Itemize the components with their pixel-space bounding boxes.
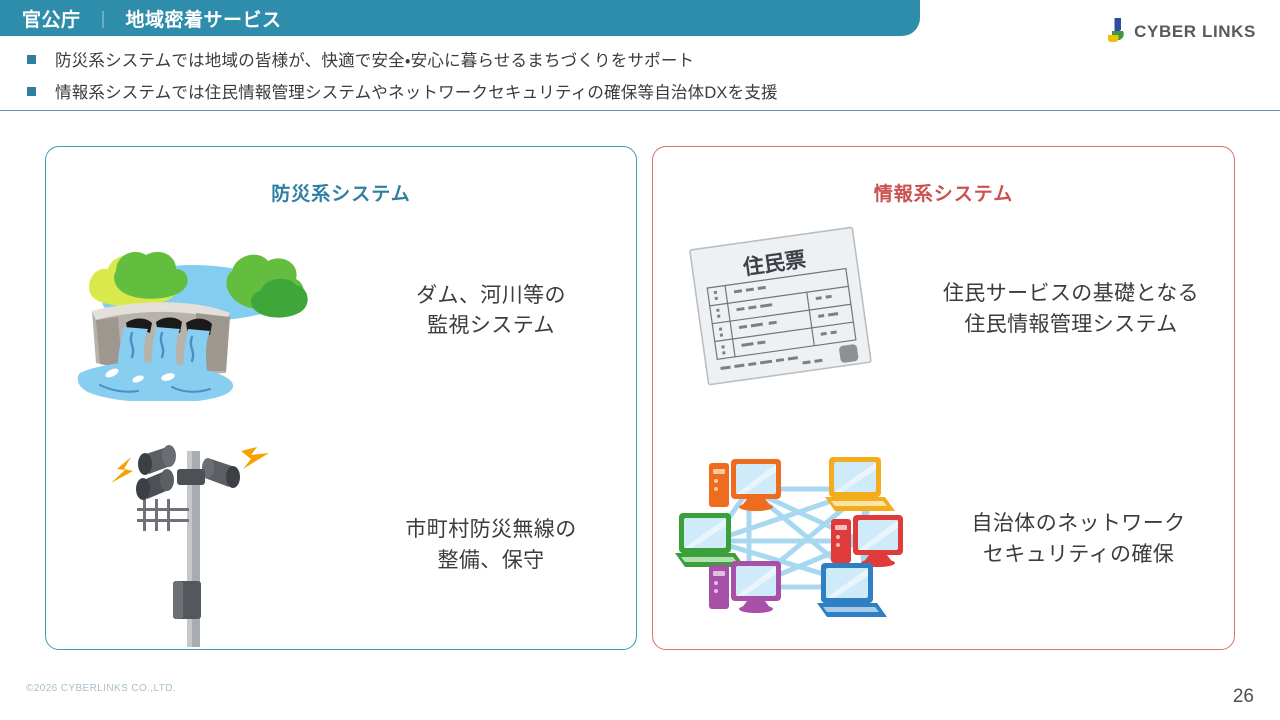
computer-network-illustration (653, 427, 923, 652)
panel-johou-item-1-caption: 住民サービスの基礎となる 住民情報管理システム (908, 279, 1234, 340)
panel-bousai-title: 防災系システム (46, 179, 636, 206)
header-separator: ｜ (95, 6, 112, 31)
disaster-radio-speaker-illustration (46, 438, 346, 653)
bullet-item-text: 防災系システムでは地域の皆様が、快適で安全・安心に暮らせるまちづくりをサポート (55, 47, 694, 71)
panel-bousai-item-2: 市町村防災無線の 整備、保守 (46, 438, 636, 653)
caption-line: 市町村防災無線の (346, 515, 636, 545)
bullet-square-icon (27, 55, 36, 64)
bullet-list: 防災系システムでは地域の皆様が、快適で安全・安心に暮らせるまちづくりをサポート … (0, 40, 1280, 104)
header-category: 官公庁 (22, 5, 81, 32)
copyright-text: ©2026 CYBERLINKS CO.,LTD. (26, 683, 176, 694)
bullet-item: 防災系システムでは地域の皆様が、快適で安全・安心に暮らせるまちづくりをサポート (0, 46, 1280, 72)
header-divider (0, 110, 1280, 111)
cyberlinks-logo-text: CYBER LINKS (1134, 22, 1256, 42)
bullet-item: 情報系システムでは住民情報管理システムやネットワークセキュリティの確保等自治体D… (0, 78, 1280, 104)
page-title: 地域密着サービス (126, 5, 282, 32)
bullet-item-text: 情報系システムでは住民情報管理システムやネットワークセキュリティの確保等自治体D… (55, 79, 778, 103)
panel-johou-item-2-caption: 自治体のネットワーク セキュリティの確保 (923, 509, 1234, 570)
panel-bousai-item-1: ダム、河川等の 監視システム (46, 216, 636, 406)
panel-johou: 情報系システム 住民票 (652, 146, 1235, 650)
caption-line: ダム、河川等の (346, 281, 636, 311)
caption-line: セキュリティの確保 (923, 540, 1234, 570)
panel-bousai-item-2-caption: 市町村防災無線の 整備、保守 (346, 515, 636, 576)
panel-johou-title: 情報系システム (653, 179, 1234, 206)
resident-record-document-illustration: 住民票 (653, 212, 908, 407)
panel-johou-item-2: 自治体のネットワーク セキュリティの確保 (653, 427, 1234, 652)
panel-bousai-item-1-caption: ダム、河川等の 監視システム (346, 281, 636, 342)
dam-illustration (46, 216, 346, 406)
page-number: 26 (1233, 686, 1254, 708)
panel-johou-item-1: 住民票 (653, 212, 1234, 407)
caption-line: 住民情報管理システム (908, 310, 1234, 340)
panel-bousai: 防災系システム (45, 146, 637, 650)
bullet-square-icon (27, 87, 36, 96)
caption-line: 自治体のネットワーク (923, 509, 1234, 539)
caption-line: 監視システム (346, 311, 636, 341)
caption-line: 住民サービスの基礎となる (908, 279, 1234, 309)
slide-header-bar: 官公庁 ｜ 地域密着サービス (0, 0, 920, 36)
caption-line: 整備、保守 (346, 546, 636, 576)
